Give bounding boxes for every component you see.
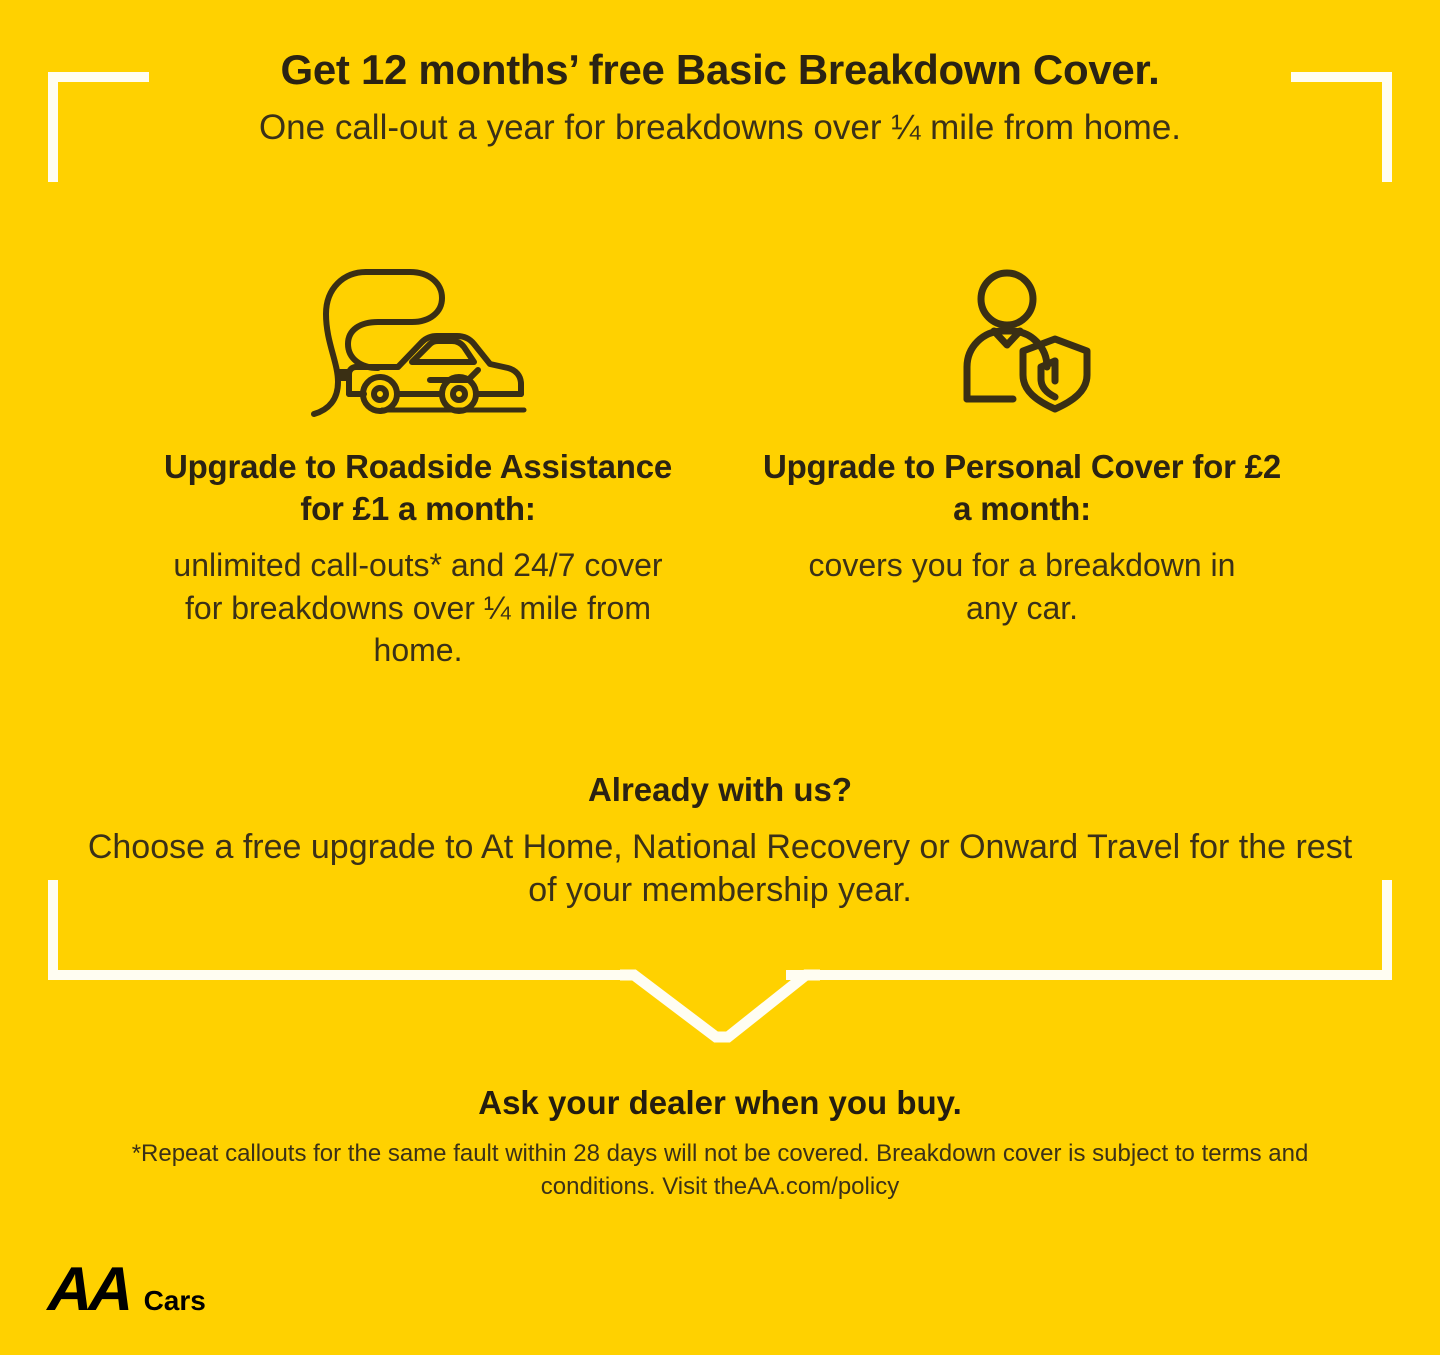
existing-members-title: Already with us?	[0, 770, 1440, 810]
existing-members-section: Already with us? Choose a free upgrade t…	[0, 770, 1440, 913]
feature-personal-cover: Upgrade to Personal Cover for £2 a month…	[742, 252, 1302, 629]
header: Get 12 months’ free Basic Breakdown Cove…	[0, 46, 1440, 149]
feature-columns: Upgrade to Roadside Assistance for £1 a …	[0, 252, 1440, 671]
person-shield-icon	[762, 252, 1282, 424]
disclaimer-text: *Repeat callouts for the same fault with…	[95, 1137, 1345, 1204]
feature-title: Upgrade to Roadside Assistance for £1 a …	[158, 446, 678, 530]
feature-body: covers you for a breakdown in any car.	[762, 544, 1282, 628]
promo-poster: Get 12 months’ free Basic Breakdown Cove…	[0, 0, 1440, 1355]
aa-cars-logo: AA Cars	[48, 1262, 206, 1318]
bracket-bottom-right-horizontal	[786, 970, 1392, 980]
feature-roadside-assistance: Upgrade to Roadside Assistance for £1 a …	[138, 252, 698, 671]
bracket-bottom-notch-icon	[620, 964, 820, 1044]
winding-road-car-icon	[158, 252, 678, 424]
existing-members-body: Choose a free upgrade to At Home, Nation…	[70, 826, 1370, 913]
footer: Ask your dealer when you buy. *Repeat ca…	[0, 1083, 1440, 1204]
page-subtitle: One call-out a year for breakdowns over …	[0, 107, 1440, 149]
page-title: Get 12 months’ free Basic Breakdown Cove…	[0, 46, 1440, 93]
aa-logo-mark: AA	[47, 1262, 131, 1318]
feature-title: Upgrade to Personal Cover for £2 a month…	[762, 446, 1282, 530]
bracket-bottom-left-horizontal	[48, 970, 634, 980]
call-to-action: Ask your dealer when you buy.	[0, 1083, 1440, 1123]
aa-logo-wordmark: Cars	[144, 1287, 206, 1315]
feature-body: unlimited call-outs* and 24/7 cover for …	[158, 544, 678, 671]
